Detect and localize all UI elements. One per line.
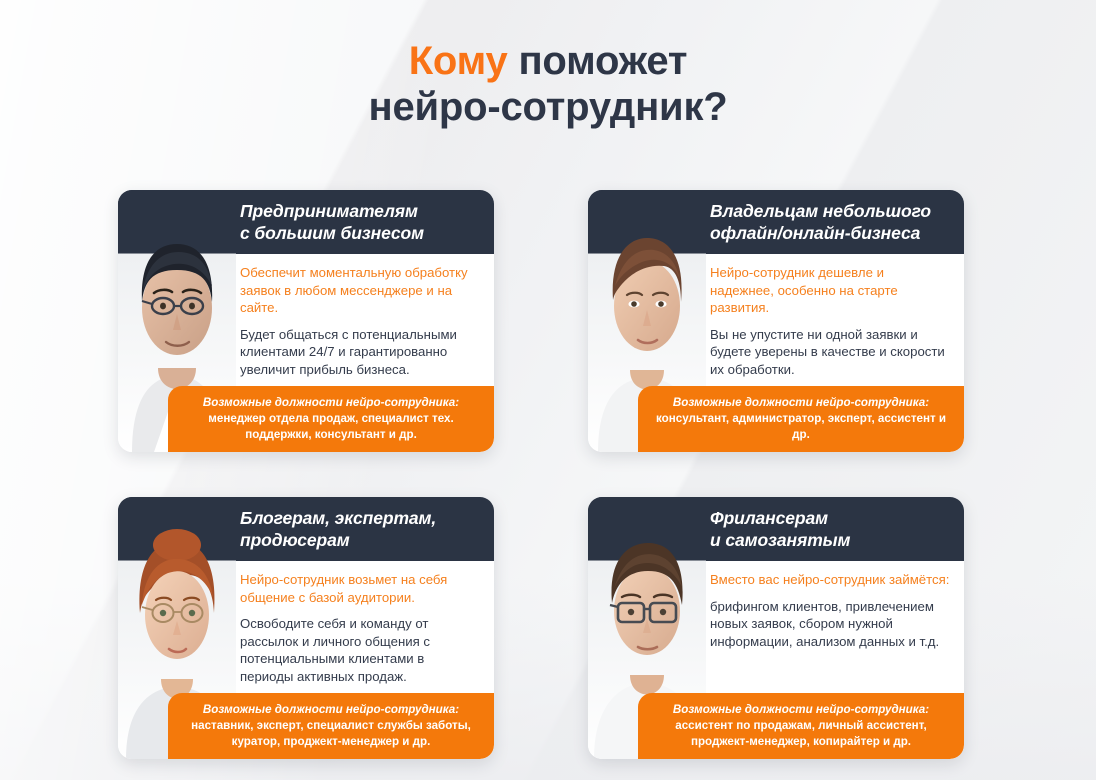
page-title-accent: Кому [409,39,508,83]
card-lead-text: Обеспечит моментальную обработку заявок … [240,264,480,317]
card-title-line1: Владельцам небольшого [710,201,931,221]
audience-card[interactable]: Предпринимателям с большим бизнесом Обес… [118,190,494,452]
roles-badge: Возможные должности нейро-сотрудника: на… [168,693,494,759]
card-body: Нейро-сотрудник дешевле и надежнее, особ… [710,254,964,378]
card-title-line2: и самозанятым [710,530,850,550]
card-body: Нейро-сотрудник возьмет на себя общение … [240,561,494,685]
card-title: Предпринимателям с большим бизнесом [240,200,436,245]
roles-badge-title: Возможные должности нейро-сотрудника: [178,702,484,717]
card-title: Владельцам небольшого офлайн/онлайн-бизн… [710,200,943,245]
card-title: Блогерам, экспертам, продюсерам [240,507,448,552]
card-title-line2: с большим бизнесом [240,223,424,243]
card-title-line1: Блогерам, экспертам, [240,508,436,528]
roles-badge-text: наставник, эксперт, специалист службы за… [178,718,484,749]
card-title-line2: офлайн/онлайн-бизнеса [710,223,920,243]
audience-card[interactable]: Владельцам небольшого офлайн/онлайн-бизн… [588,190,964,452]
roles-badge-title: Возможные должности нейро-сотрудника: [178,395,484,410]
card-body: Обеспечит моментальную обработку заявок … [240,254,494,378]
roles-badge-text: консультант, администратор, эксперт, асс… [648,411,954,442]
roles-badge: Возможные должности нейро-сотрудника: ас… [638,693,964,759]
roles-badge: Возможные должности нейро-сотрудника: ко… [638,386,964,452]
roles-badge-text: ассистент по продажам, личный ассистент,… [648,718,954,749]
card-title: Фрилансерам и самозанятым [710,507,862,552]
page-title-rest: поможет [508,39,688,83]
card-lead-text: Нейро-сотрудник дешевле и надежнее, особ… [710,264,950,317]
card-title-line1: Фрилансерам [710,508,828,528]
page-title-line2: нейро-сотрудник? [368,85,727,129]
audience-card[interactable]: Блогерам, экспертам, продюсерам Нейро-со… [118,497,494,759]
card-lead-text: Нейро-сотрудник возьмет на себя общение … [240,571,480,606]
card-title-line1: Предпринимателям [240,201,418,221]
card-body: Вместо вас нейро-сотрудник займётся: бри… [710,561,964,650]
audience-card-grid: Предпринимателям с большим бизнесом Обес… [118,190,978,759]
roles-badge: Возможные должности нейро-сотрудника: ме… [168,386,494,452]
audience-card[interactable]: Фрилансерам и самозанятым Вместо вас ней… [588,497,964,759]
card-paragraph: Вы не упустите ни одной заявки и будете … [710,326,950,379]
landing-section: Кому поможет нейро-сотрудник? Предприним… [0,0,1096,780]
card-paragraph: Освободите себя и команду от рассылок и … [240,615,480,685]
card-paragraph: Будет общаться с потенциальными клиентам… [240,326,480,379]
card-title-line2: продюсерам [240,530,350,550]
card-paragraph: брифингом клиентов, привлечением новых з… [710,598,950,651]
roles-badge-title: Возможные должности нейро-сотрудника: [648,702,954,717]
roles-badge-text: менеджер отдела продаж, специалист тех. … [178,411,484,442]
card-lead-text: Вместо вас нейро-сотрудник займётся: [710,571,950,589]
page-title: Кому поможет нейро-сотрудник? [0,0,1096,131]
roles-badge-title: Возможные должности нейро-сотрудника: [648,395,954,410]
